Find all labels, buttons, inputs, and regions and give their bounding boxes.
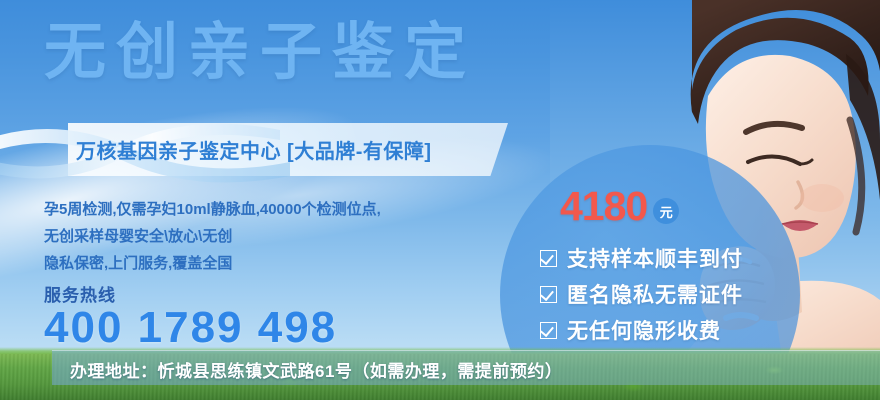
body-line-2: 无创采样母婴安全\放心\无创 [44, 223, 381, 250]
address-text: 办理地址：忻城县思练镇文武路61号（如需办理，需提前预约） [70, 357, 562, 382]
advertisement-banner: 无创亲子鉴定 万核基因亲子鉴定中心 [大品牌-有保障] 孕5周检测,仅需孕妇10… [0, 0, 880, 400]
page-title: 无创亲子鉴定 [44, 22, 476, 84]
list-item: 支持样本顺丰到付 [540, 240, 840, 276]
feature-label: 无任何隐形收费 [567, 315, 721, 345]
price-unit-badge: 元 [653, 198, 679, 224]
feature-label: 支持样本顺丰到付 [567, 243, 743, 273]
subtitle-text: 万核基因亲子鉴定中心 [大品牌-有保障] [76, 135, 432, 164]
body-line-1: 孕5周检测,仅需孕妇10ml静脉血,40000个检测位点, [44, 196, 381, 223]
price-block: 4180 元 [560, 186, 679, 227]
body-line-3: 隐私保密,上门服务,覆盖全国 [44, 250, 381, 277]
feature-label: 匿名隐私无需证件 [567, 279, 743, 309]
price-amount: 4180 [560, 186, 647, 227]
list-item: 无任何隐形收费 [540, 312, 840, 348]
body-copy: 孕5周检测,仅需孕妇10ml静脉血,40000个检测位点, 无创采样母婴安全\放… [44, 196, 381, 277]
check-icon [540, 250, 557, 267]
feature-list: 支持样本顺丰到付 匿名隐私无需证件 无任何隐形收费 [540, 240, 840, 348]
hotline-phone-number[interactable]: 400 1789 498 [44, 306, 337, 350]
check-icon [540, 286, 557, 303]
list-item: 匿名隐私无需证件 [540, 276, 840, 312]
check-icon [540, 322, 557, 339]
